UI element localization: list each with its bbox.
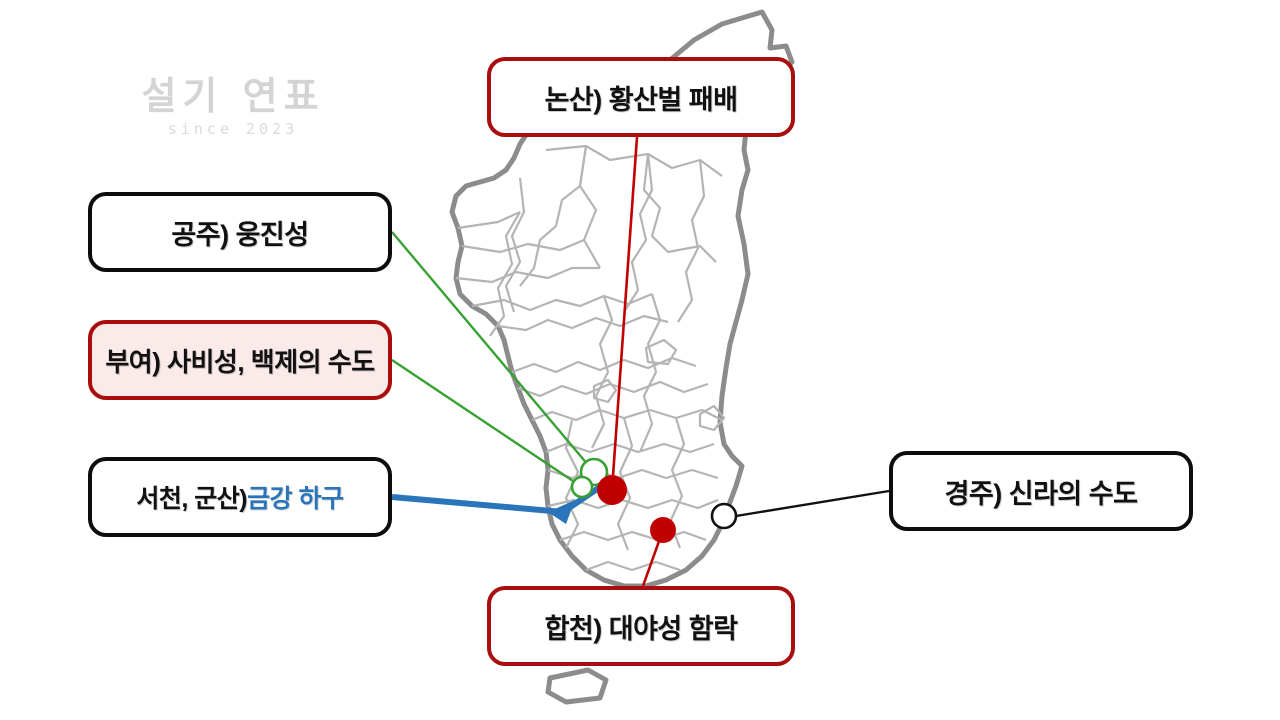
marker-sabi-fortress — [572, 477, 592, 497]
marker-daeyaseong — [650, 517, 676, 543]
callout-nonsan[interactable]: 논산) 황산벌 패배 — [487, 57, 795, 137]
callout-nonsan-label: 논산) 황산벌 패배 — [545, 78, 738, 117]
connector-black-line — [736, 491, 889, 516]
marker-hwangsanbeol — [597, 475, 627, 505]
marker-gyeongju-capital — [712, 504, 736, 528]
callout-gongju[interactable]: 공주) 웅진성 — [88, 192, 392, 272]
callout-seocheon-gunsan[interactable]: 서천, 군산) 금강 하구 — [88, 457, 392, 537]
callout-gongju-label: 공주) 웅진성 — [171, 213, 308, 252]
callout-hapcheon-label: 합천) 대야성 함락 — [545, 607, 738, 646]
callout-hapcheon[interactable]: 합천) 대야성 함락 — [487, 586, 795, 666]
callout-gyeongju-label: 경주) 신라의 수도 — [945, 472, 1138, 511]
jeju-island — [548, 670, 606, 702]
callout-buyeo[interactable]: 부여) 사비성, 백제의 수도 — [88, 320, 392, 400]
map-slide: 설기 연표 since 2023 논산) 황산벌 패배 공주) 웅진성 부여) … — [0, 0, 1280, 720]
callout-seocheon-label: 서천, 군산) — [136, 479, 247, 515]
callout-seocheon-highlight: 금강 하구 — [247, 479, 343, 515]
callout-buyeo-label: 부여) 사비성, 백제의 수도 — [105, 342, 374, 379]
callout-gyeongju[interactable]: 경주) 신라의 수도 — [889, 451, 1193, 531]
